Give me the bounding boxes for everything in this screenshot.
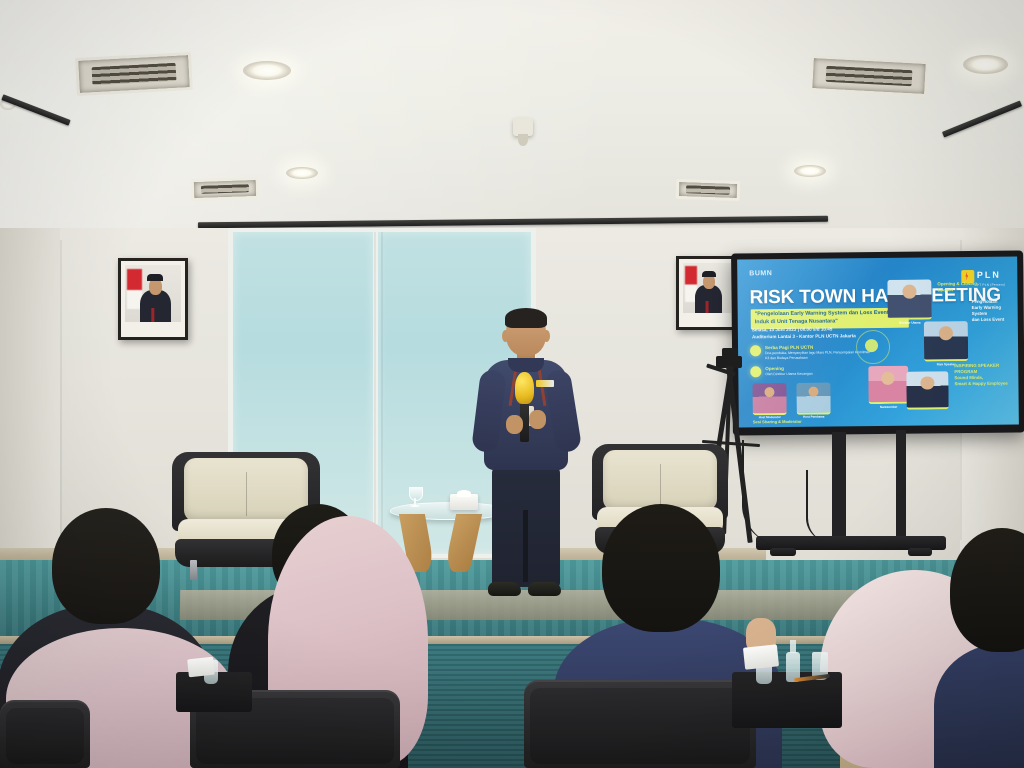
water-bottle[interactable] [786,640,800,682]
ceiling-downlight [963,55,1008,74]
tv-stand-column [832,432,846,540]
fire-sprinkler-icon [238,112,248,124]
agenda-item-title: Opening [765,366,812,372]
ceiling [0,0,1024,232]
speaker-photo [924,321,968,361]
portrait-image [683,263,731,320]
pln-logo: PLN PT PLN (Persero) [961,265,1006,287]
slide-speaker-photos: Direktur Utama Opening & Closing Speech … [879,277,1015,428]
decorative-ring [856,330,890,364]
presentation-screen: BUMN PLN PT PLN (Persero) RISK TOWN HALL… [737,257,1019,428]
portrait-peci-cap [147,274,163,281]
portrait-image [125,265,181,330]
presenter-speaker [470,310,580,610]
agenda-item-detail: Oleh Direktur Utama Keuangan [765,372,812,377]
pln-lightning-icon [961,269,974,282]
armchair-tuft [660,464,661,505]
speaker-photo [868,366,908,404]
vice-president-portrait [676,256,738,330]
speaker-name: Narasumber [869,405,909,409]
audience-chair-back[interactable] [524,680,756,768]
slide-location-line: Auditorium Lantai 3 - Kantor PLN UCTN Ja… [752,333,856,341]
chair-back-panel [6,708,84,764]
agenda-bullet-icon [750,366,761,377]
speaker-name: Risk Speaker [924,362,968,366]
portrait-suit [695,285,722,317]
slide-agenda-list: Serba Pagi PLN UCTN Doa pembuka, Menyany… [750,344,875,383]
power-cable [806,470,830,542]
host-name: Host Pembawa [797,415,831,419]
chair-back-panel [530,688,750,764]
fire-sprinkler-icon [288,199,298,211]
presenter-shoe-right [528,582,561,596]
host-photo [752,383,786,415]
attendee-shoulders [934,644,1024,768]
goblet-foot [410,505,420,507]
goblet-bowl [409,487,423,501]
presenter-hand-left [506,415,523,434]
slide-hosts-caption: Sesi Sharing & Moderator [753,419,802,425]
ceiling-air-vent [676,179,741,201]
presenter-leg-gap [523,510,528,582]
portrait-caption-bar [125,322,181,330]
water-goblet [409,487,421,508]
microphone-icon [515,372,534,404]
president-portrait [118,258,188,340]
bumn-logo: BUMN [749,270,772,277]
host-photo [796,383,830,415]
host-card: Host Pembawa [796,383,830,420]
host-name: Host Moderator [753,416,787,420]
audience-chair-back[interactable] [0,700,90,768]
decorative-dot [865,339,878,352]
speaker-name: Direktur Utama [888,320,932,324]
speaker-role-label: Opening & Closing Speech [937,281,1001,294]
ceiling-air-vent [75,52,193,96]
attendee-head [950,528,1024,652]
speaker-card: Narasumber [868,366,908,409]
tv-stand-column [896,430,906,542]
presenter-hand-right [529,410,546,429]
pln-logo-text: PLN [977,270,1001,280]
tissue-napkin [743,644,779,669]
agenda-item-title: Serba Pagi PLN UCTN [765,344,875,351]
attendee-far-right-male [944,528,1024,768]
portrait-peci-cap [702,271,715,277]
fire-sprinkler-icon [875,195,885,207]
presenter-hair [505,308,547,328]
slide-title: RISK TOWN HALL MEETING [749,285,1001,310]
speaker-card: Risk Speaker [924,321,968,366]
tv-stand-caster [770,548,796,556]
ceiling-downlight [794,165,826,177]
attendee-head [52,508,160,624]
speaker-card [906,371,948,410]
agenda-item: Serba Pagi PLN UCTN Doa pembuka, Menyany… [750,344,875,360]
slide-date-line: Selasa, 13 Juni 2023 | 08.00 s/d 10.45 [752,326,856,334]
slide-content: BUMN PLN PT PLN (Persero) RISK TOWN HALL… [737,257,1019,428]
presenter-shoe-left [488,582,521,596]
speaker-photo [906,371,948,409]
portrait-mat [679,259,735,327]
portrait-mat [121,261,185,337]
presentation-display[interactable]: BUMN PLN PT PLN (Persero) RISK TOWN HALL… [731,250,1024,435]
slide-host-photos: Host Moderator Host Pembawa [752,383,830,420]
fire-sprinkler-icon [505,118,541,148]
ceiling-air-vent [809,55,929,97]
presenter-collar [508,358,544,372]
host-card: Host Moderator [752,383,786,420]
tv-stand-caster [908,548,932,556]
slide-subtitle: "Pengelolaan Early Warning System dan Lo… [751,308,909,329]
ceiling-air-vent [191,177,260,201]
pln-logo-tagline: PT PLN (Persero) [977,283,1006,287]
tripod-camera-plate [722,348,738,357]
agenda-item-detail: Doa pembuka, Menyanyikan lagu Mars PLN, … [765,350,875,360]
agenda-item: Opening Oleh Direktur Utama Keuangan [750,365,875,377]
ceiling-downlight [243,61,291,80]
slide-datetime: Selasa, 13 Juni 2023 | 08.00 s/d 10.45 A… [752,326,856,341]
speaker-role-label: Pengelolaan Early Warning System dan Los… [972,299,1018,323]
bottle-neck [790,640,795,653]
speaker-role-label: INSPIRING SPEAKER PROGRAM Sound Minds, S… [954,363,1016,387]
presenter-name-badge [536,380,554,387]
tissue-napkin [187,657,215,678]
speaker-card: Direktur Utama [887,279,931,324]
attendee-head [602,504,720,632]
portrait-suit [140,290,171,326]
portrait-caption-bar [683,313,731,320]
agenda-bullet-icon [750,345,761,356]
photo-scene: BUMN PLN PT PLN (Persero) RISK TOWN HALL… [0,0,1024,768]
ceiling-downlight [286,167,318,179]
speaker-photo [887,279,931,319]
